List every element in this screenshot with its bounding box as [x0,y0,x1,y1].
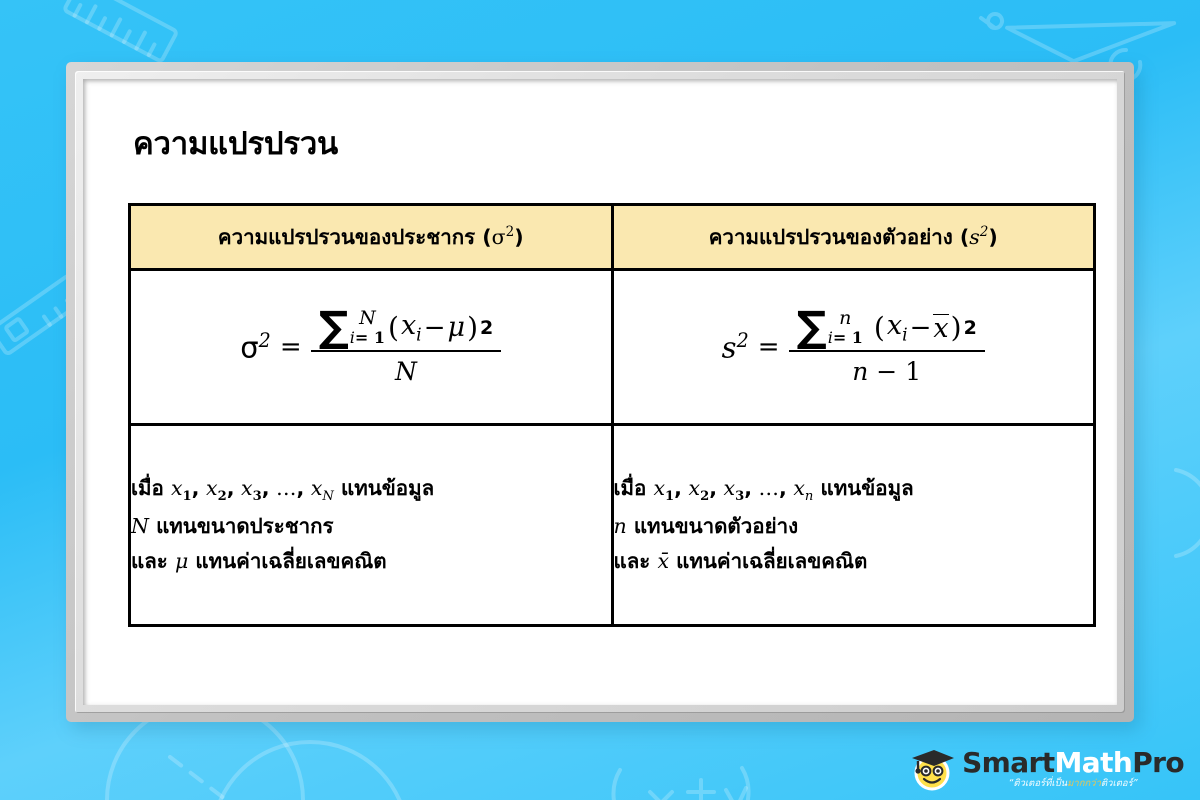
sample-mean-symbol: x [933,314,948,342]
logo-word-text: SmartMathPro [962,749,1184,777]
notes-line-3-population: และ μ แทนค่าเฉลี่ยเลขคณิต [131,544,611,579]
square-exponent-population: 2 [480,317,493,339]
graduate-smiley-icon [904,746,956,792]
notes-size-symbol-sample: n [614,514,627,538]
sigma-symbol: σ [492,225,506,249]
data-var-3-sample: x3 [717,476,744,500]
fraction-sample: ∑ n i= 1 ( [789,308,985,386]
square-exponent-sample: 2 [964,317,977,339]
fraction-population: ∑ N i= 1 ( xi [311,308,502,386]
equals-sign-population: = [280,332,302,362]
logo-wordmark: SmartMathPro “ติวเตอร์ที่เป็นมากกว่าติวเ… [962,749,1184,789]
notes-cell-sample: เมื่อ x1, x2, x3, …, xn แทนข้อมูล n แทนข… [612,425,1095,626]
equals-sign-sample: = [758,332,780,362]
term-var-glyph-population: x [401,310,416,341]
term-var-glyph-sample: x [887,310,902,341]
data-var-2-sample: x2 [682,476,709,500]
formula-cell-population: σ2 = ∑ N [130,270,613,425]
formula-lhs-exp-sample: 2 [737,329,749,352]
whiteboard-frame-bevel: ความแปรปรวน ความแปรปรวนของประชากร (σ2) ค… [75,71,1125,713]
logo-word-pro: Pro [1132,746,1184,779]
summation-lower-sample: i= 1 [828,329,863,347]
tagline-mid: มากกว่า [1067,778,1101,789]
tagline-left: ติวเตอร์ที่เป็น [1013,778,1067,789]
tagline-quote-close: ” [1133,778,1138,789]
header-close-paren-sample: ) [988,225,997,249]
formula-lhs-population: σ2 [240,329,271,365]
data-var-2-population: x2 [199,476,226,500]
term-sub-sample: i [902,325,908,345]
header-cell-population: ความแปรปรวนของประชากร (σ2) [130,205,613,270]
notes-line-1-population: เมื่อ x1, x2, x3, …, xN แทนข้อมูล [131,471,611,509]
sample-variance-formula: s2 = ∑ n [722,308,985,386]
population-mean-symbol: μ [448,312,466,343]
header-label-population: ความแปรปรวนของประชากร (σ2) [218,225,524,249]
formula-lhs-sample: s2 [722,329,749,365]
minus-sign-sample: − [910,313,932,343]
close-paren-population: ) [467,311,478,344]
whiteboard-surface: ความแปรปรวน ความแปรปรวนของประชากร (σ2) ค… [83,79,1117,705]
header-label-sample: ความแปรปรวนของตัวอย่าง (s2) [709,225,998,249]
data-var-last-population: xN [304,476,334,500]
notes-mean-text-population: แทนค่าเฉลี่ยเลขคณิต [188,549,386,573]
ruler-doodle-top-left [64,0,177,62]
notes-suffix-sample: แทนข้อมูล [813,476,913,500]
summation-lower-population: i= 1 [350,329,385,347]
variance-formula-table: ความแปรปรวนของประชากร (σ2) ความแปรปรวนขอ… [128,203,1096,627]
fraction-denominator-population: N [395,352,417,386]
summation-start-population: = 1 [355,328,385,347]
term-variable-sample: xi [887,310,908,345]
header-text-population: ความแปรปรวนของประชากร ( [218,225,492,249]
summation-start-sample: = 1 [833,328,863,347]
notes-size-symbol-population: N [131,514,149,538]
summation-operator-population: ∑ N i= 1 [319,308,385,347]
s-symbol: s [969,225,980,249]
slide-content: ความแปรปรวน ความแปรปรวนของประชากร (σ2) ค… [83,79,1117,705]
notes-prefix-sample: เมื่อ [614,476,654,500]
notes-size-text-sample: แทนขนาดตัวอย่าง [627,514,798,538]
term-sub-population: i [416,325,422,345]
logo-word-smart: Smart [962,746,1054,779]
data-var-1-sample: x1 [653,476,674,500]
data-var-3-population: x3 [234,476,261,500]
summation-upper-population: N [350,308,385,329]
data-var-ellipsis-population: … [270,476,297,500]
table-formula-row: σ2 = ∑ N [130,270,1095,425]
denominator-var-sample: n [852,357,868,386]
smartmathpro-logo: SmartMathPro “ติวเตอร์ที่เป็นมากกว่าติวเ… [904,746,1184,792]
fraction-denominator-sample: n − 1 [852,352,921,386]
data-var-ellipsis-sample: … [752,476,779,500]
open-paren-population: ( [388,311,399,344]
logo-word-math: Math [1055,746,1133,779]
notes-mean-text-sample: แทนค่าเฉลี่ยเลขคณิต [669,549,867,573]
header-close-paren-population: ) [514,225,523,249]
notes-line-3-sample: และ x̄ แทนค่าเฉลี่ยเลขคณิต [614,544,1094,579]
sigma-exponent: 2 [506,224,515,240]
summation-upper-sample: n [828,308,863,329]
minus-sign-population: − [424,313,446,343]
notes-and-sample: และ [614,549,658,573]
notes-mean-symbol-population: μ [175,549,188,573]
formula-lhs-exp-population: 2 [259,329,271,352]
data-var-last-sample: xn [787,476,814,500]
fraction-numerator-population: ∑ N i= 1 ( xi [311,308,502,352]
header-cell-sample: ความแปรปรวนของตัวอย่าง (s2) [612,205,1095,270]
header-text-sample: ความแปรปรวนของตัวอย่าง ( [709,225,970,249]
formula-doodle-bottom-center [613,768,748,800]
arc-doodle-right [1176,470,1200,556]
notes-suffix-population: แทนข้อมูล [334,476,434,500]
notes-size-text-population: แทนขนาดประชากร [149,514,334,538]
data-var-1-population: x1 [171,476,192,500]
summation-limits-sample: n i= 1 [828,308,863,347]
formula-lhs-symbol-population: σ [240,331,258,365]
page-title: ความแปรปรวน [133,127,1073,161]
notes-prefix-population: เมื่อ [131,476,171,500]
notes-cell-population: เมื่อ x1, x2, x3, …, xN แทนข้อมูล N แทนข… [130,425,613,626]
notes-mean-symbol-sample: x̄ [657,549,669,573]
notes-line-2-sample: n แทนขนาดตัวอย่าง [614,509,1094,544]
notes-line-2-population: N แทนขนาดประชากร [131,509,611,544]
sigma-glyph-sample: ∑ [797,310,827,344]
fraction-numerator-sample: ∑ n i= 1 ( [789,308,985,352]
open-paren-sample: ( [874,311,885,344]
summation-limits-population: N i= 1 [350,308,385,347]
close-paren-sample: ) [951,311,962,344]
population-variance-formula: σ2 = ∑ N [240,308,501,386]
slide-canvas: ความแปรปรวน ความแปรปรวนของประชากร (σ2) ค… [0,0,1200,800]
summation-operator-sample: ∑ n i= 1 [797,308,863,347]
notes-and-population: และ [131,549,175,573]
notes-line-1-sample: เมื่อ x1, x2, x3, …, xn แทนข้อมูล [614,471,1094,509]
denominator-rest-sample: − 1 [868,357,921,386]
table-notes-row: เมื่อ x1, x2, x3, …, xN แทนข้อมูล N แทนข… [130,425,1095,626]
term-variable-population: xi [401,310,422,345]
tagline-right: ติวเตอร์ [1101,778,1133,789]
table-header-row: ความแปรปรวนของประชากร (σ2) ความแปรปรวนขอ… [130,205,1095,270]
formula-lhs-symbol-sample: s [722,331,737,365]
sigma-glyph-population: ∑ [319,310,349,344]
logo-tagline: “ติวเตอร์ที่เป็นมากกว่าติวเตอร์” [1008,779,1137,789]
formula-cell-sample: s2 = ∑ n [612,270,1095,425]
whiteboard-frame: ความแปรปรวน ความแปรปรวนของประชากร (σ2) ค… [66,62,1134,722]
